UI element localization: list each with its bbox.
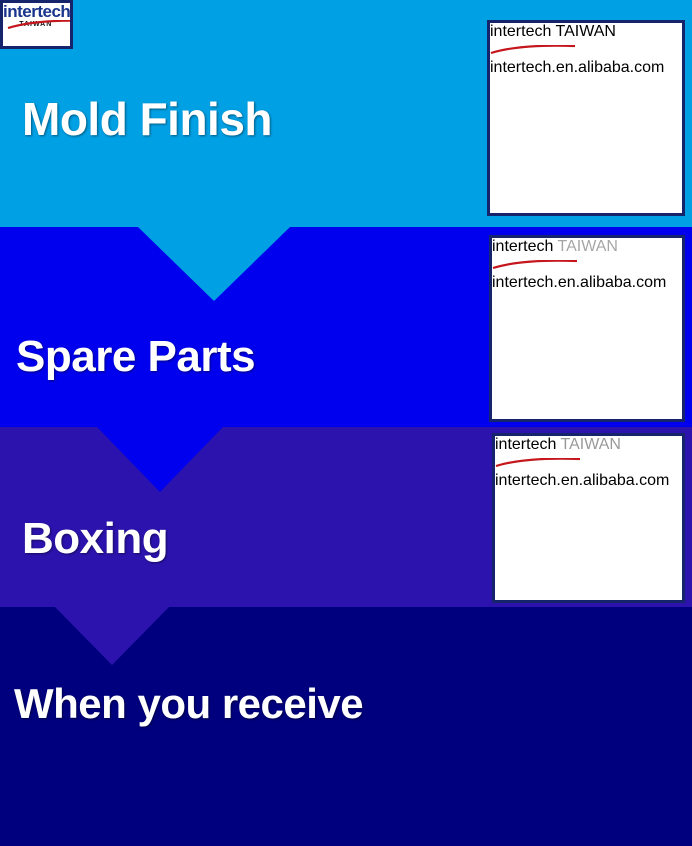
brand-country: TAIWAN (561, 436, 621, 453)
brand-wordmark: intertech (492, 238, 553, 255)
brand-swoosh-icon (490, 41, 576, 58)
step-3-logo: intertech TAIWAN (495, 436, 682, 472)
slide-canvas: Mold Finish intertech TAIWAN (0, 0, 692, 846)
brand-country: TAIWAN (558, 238, 618, 255)
brand-wordmark: intertech (495, 436, 556, 453)
step-2-chevron-down-icon (97, 427, 223, 492)
step-1-logo: intertech TAIWAN (490, 23, 682, 59)
step-1-label: Mold Finish (22, 92, 272, 146)
step-3-watermark: intertech.en.alibaba.com (495, 472, 682, 490)
step-2-photo: intertech.en.alibaba.com (492, 274, 682, 292)
brand-wordmark: intertech (490, 23, 551, 40)
step-1-photo: intertech.en.alibaba.com (490, 59, 682, 77)
brand-wordmark: intertech (3, 3, 70, 20)
step-4-label: When you receive (14, 680, 363, 728)
step-1-photo-card[interactable]: intertech TAIWAN (487, 20, 685, 216)
step-2-watermark: intertech.en.alibaba.com (492, 274, 682, 292)
step-1-chevron-down-icon (138, 227, 290, 301)
brand-swoosh-icon (492, 256, 578, 273)
step-2-label: Spare Parts (16, 332, 255, 382)
step-3-photo-card[interactable]: intertech TAIWAN intertech.en.alibaba.co… (492, 433, 685, 603)
step-3-label: Boxing (22, 514, 168, 564)
step-4-photo-card[interactable]: intertech TAIWAN (0, 0, 73, 49)
brand-swoosh-icon (495, 454, 581, 471)
step-2-photo-card[interactable]: intertech TAIWAN intertech.en.alibaba.co (489, 235, 685, 422)
step-4-photo-footer (3, 29, 70, 46)
step-2-logo: intertech TAIWAN (492, 238, 682, 274)
brand-country: TAIWAN (556, 23, 616, 40)
step-4-logo: intertech TAIWAN (3, 3, 70, 29)
step-3-chevron-down-icon (55, 607, 169, 665)
brand-country: TAIWAN (3, 21, 70, 29)
step-3-photo: intertech.en.alibaba.com (495, 472, 682, 490)
step-1-watermark: intertech.en.alibaba.com (490, 59, 682, 77)
